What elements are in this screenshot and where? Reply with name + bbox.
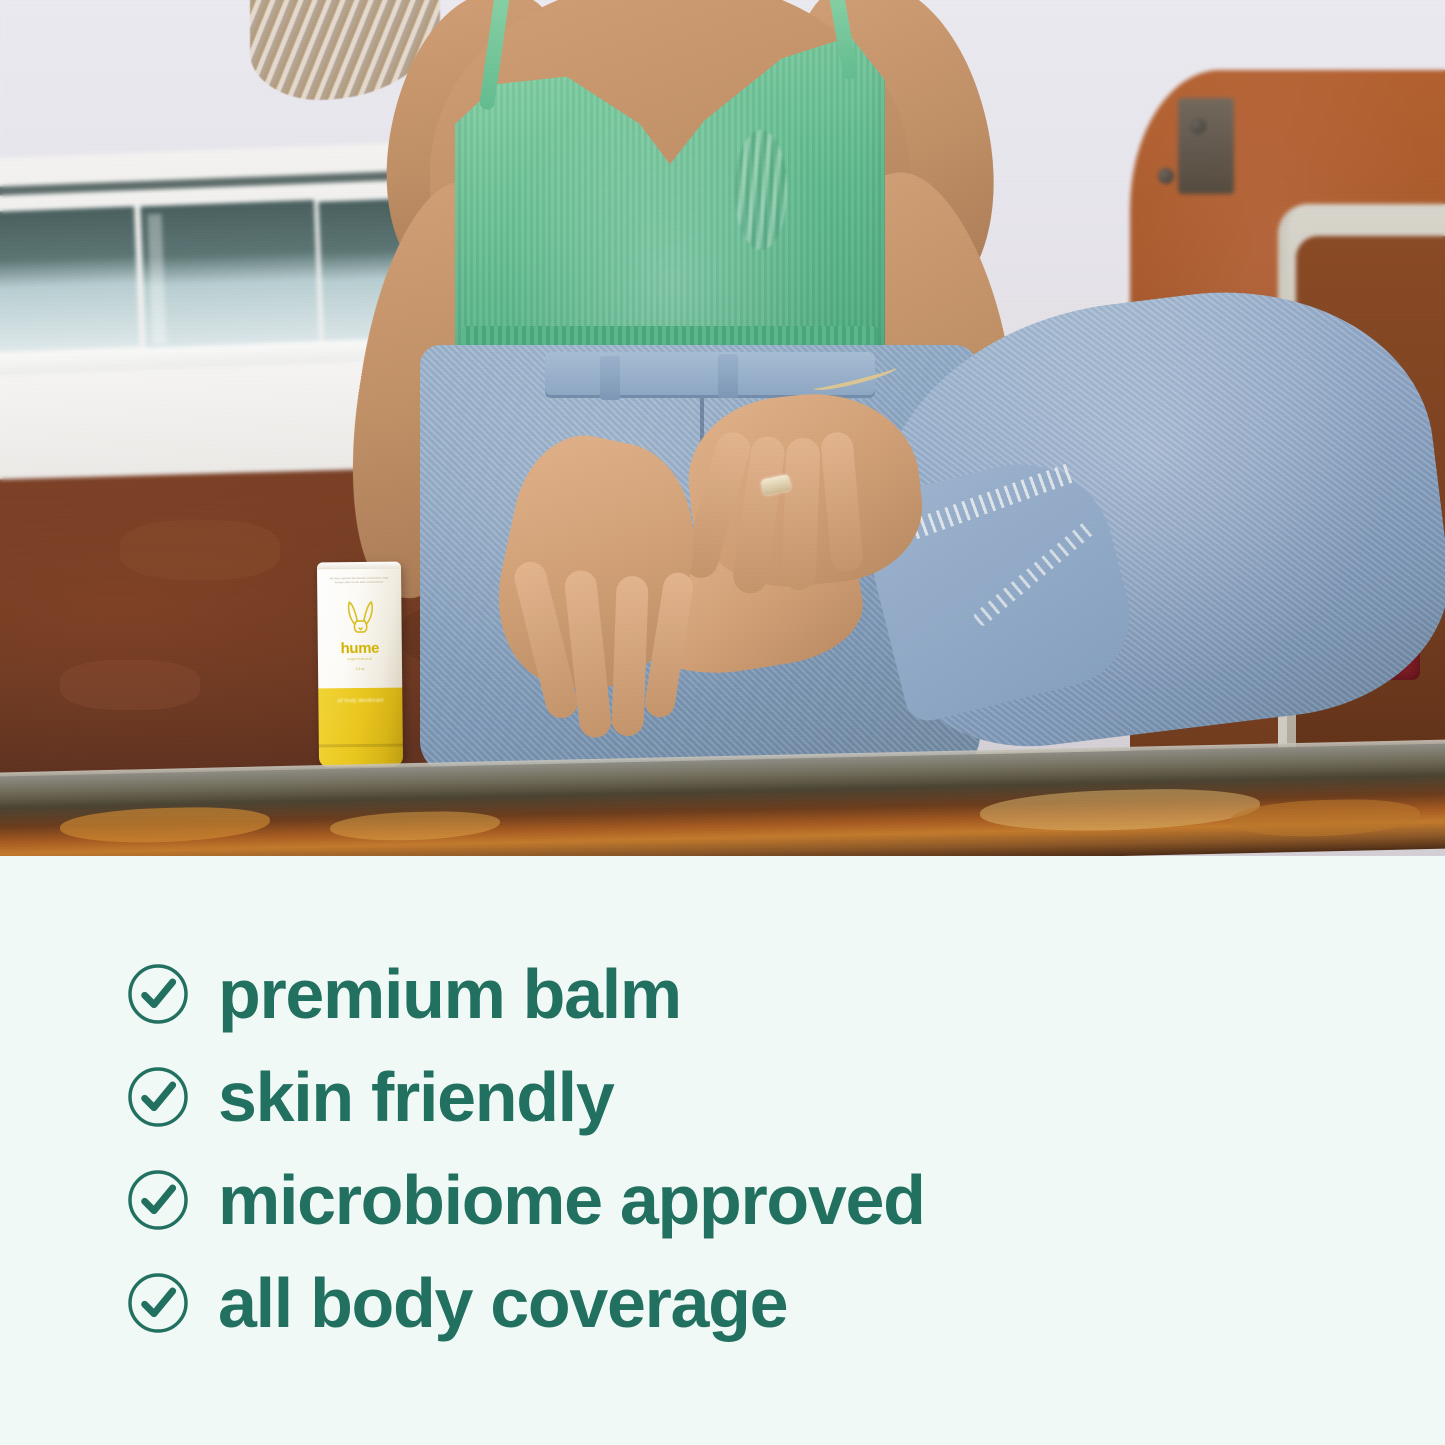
tube-top-seal	[317, 562, 401, 570]
crop-top-ruching	[735, 130, 787, 250]
jeans-belt-loop	[600, 356, 620, 400]
check-circle-icon	[126, 1065, 190, 1129]
feature-label: premium balm	[218, 959, 681, 1029]
list-item: microbiome approved	[0, 1148, 1445, 1251]
check-circle-icon	[126, 962, 190, 1026]
list-item: skin friendly	[0, 1045, 1445, 1148]
tailgate-hinge	[1178, 98, 1234, 194]
cab-window-left	[0, 203, 143, 355]
feature-label: all body coverage	[218, 1268, 787, 1338]
list-item: premium balm	[0, 942, 1445, 1045]
tailgate-bolt	[1190, 118, 1206, 134]
jeans-waistband	[545, 352, 875, 398]
tube-product-name: all body deodorant	[318, 698, 402, 706]
bed-rust-speck	[120, 520, 280, 580]
feature-panel: premium balm skin friendly microbiome ap…	[0, 856, 1445, 1445]
rabbit-head-icon	[344, 598, 376, 638]
tube-fine-print: all-day natural deodorant protection tha…	[329, 576, 389, 585]
product-tube: all-day natural deodorant protection tha…	[317, 562, 403, 768]
check-circle-icon	[126, 1168, 190, 1232]
bed-rust-speck	[60, 660, 200, 710]
lifestyle-photo: all-day natural deodorant protection tha…	[0, 0, 1445, 856]
feature-list: premium balm skin friendly microbiome ap…	[0, 942, 1445, 1354]
jeans-belt-loop	[718, 354, 738, 398]
tube-brand-name: hume	[318, 640, 402, 658]
finger	[781, 437, 820, 590]
finger	[611, 575, 649, 736]
list-item: all body coverage	[0, 1251, 1445, 1354]
product-marketing-image: all-day natural deodorant protection tha…	[0, 0, 1445, 1445]
feature-label: skin friendly	[218, 1062, 613, 1132]
feature-label: microbiome approved	[218, 1165, 925, 1235]
check-circle-icon	[126, 1271, 190, 1335]
tailgate-bolt	[1158, 168, 1174, 184]
